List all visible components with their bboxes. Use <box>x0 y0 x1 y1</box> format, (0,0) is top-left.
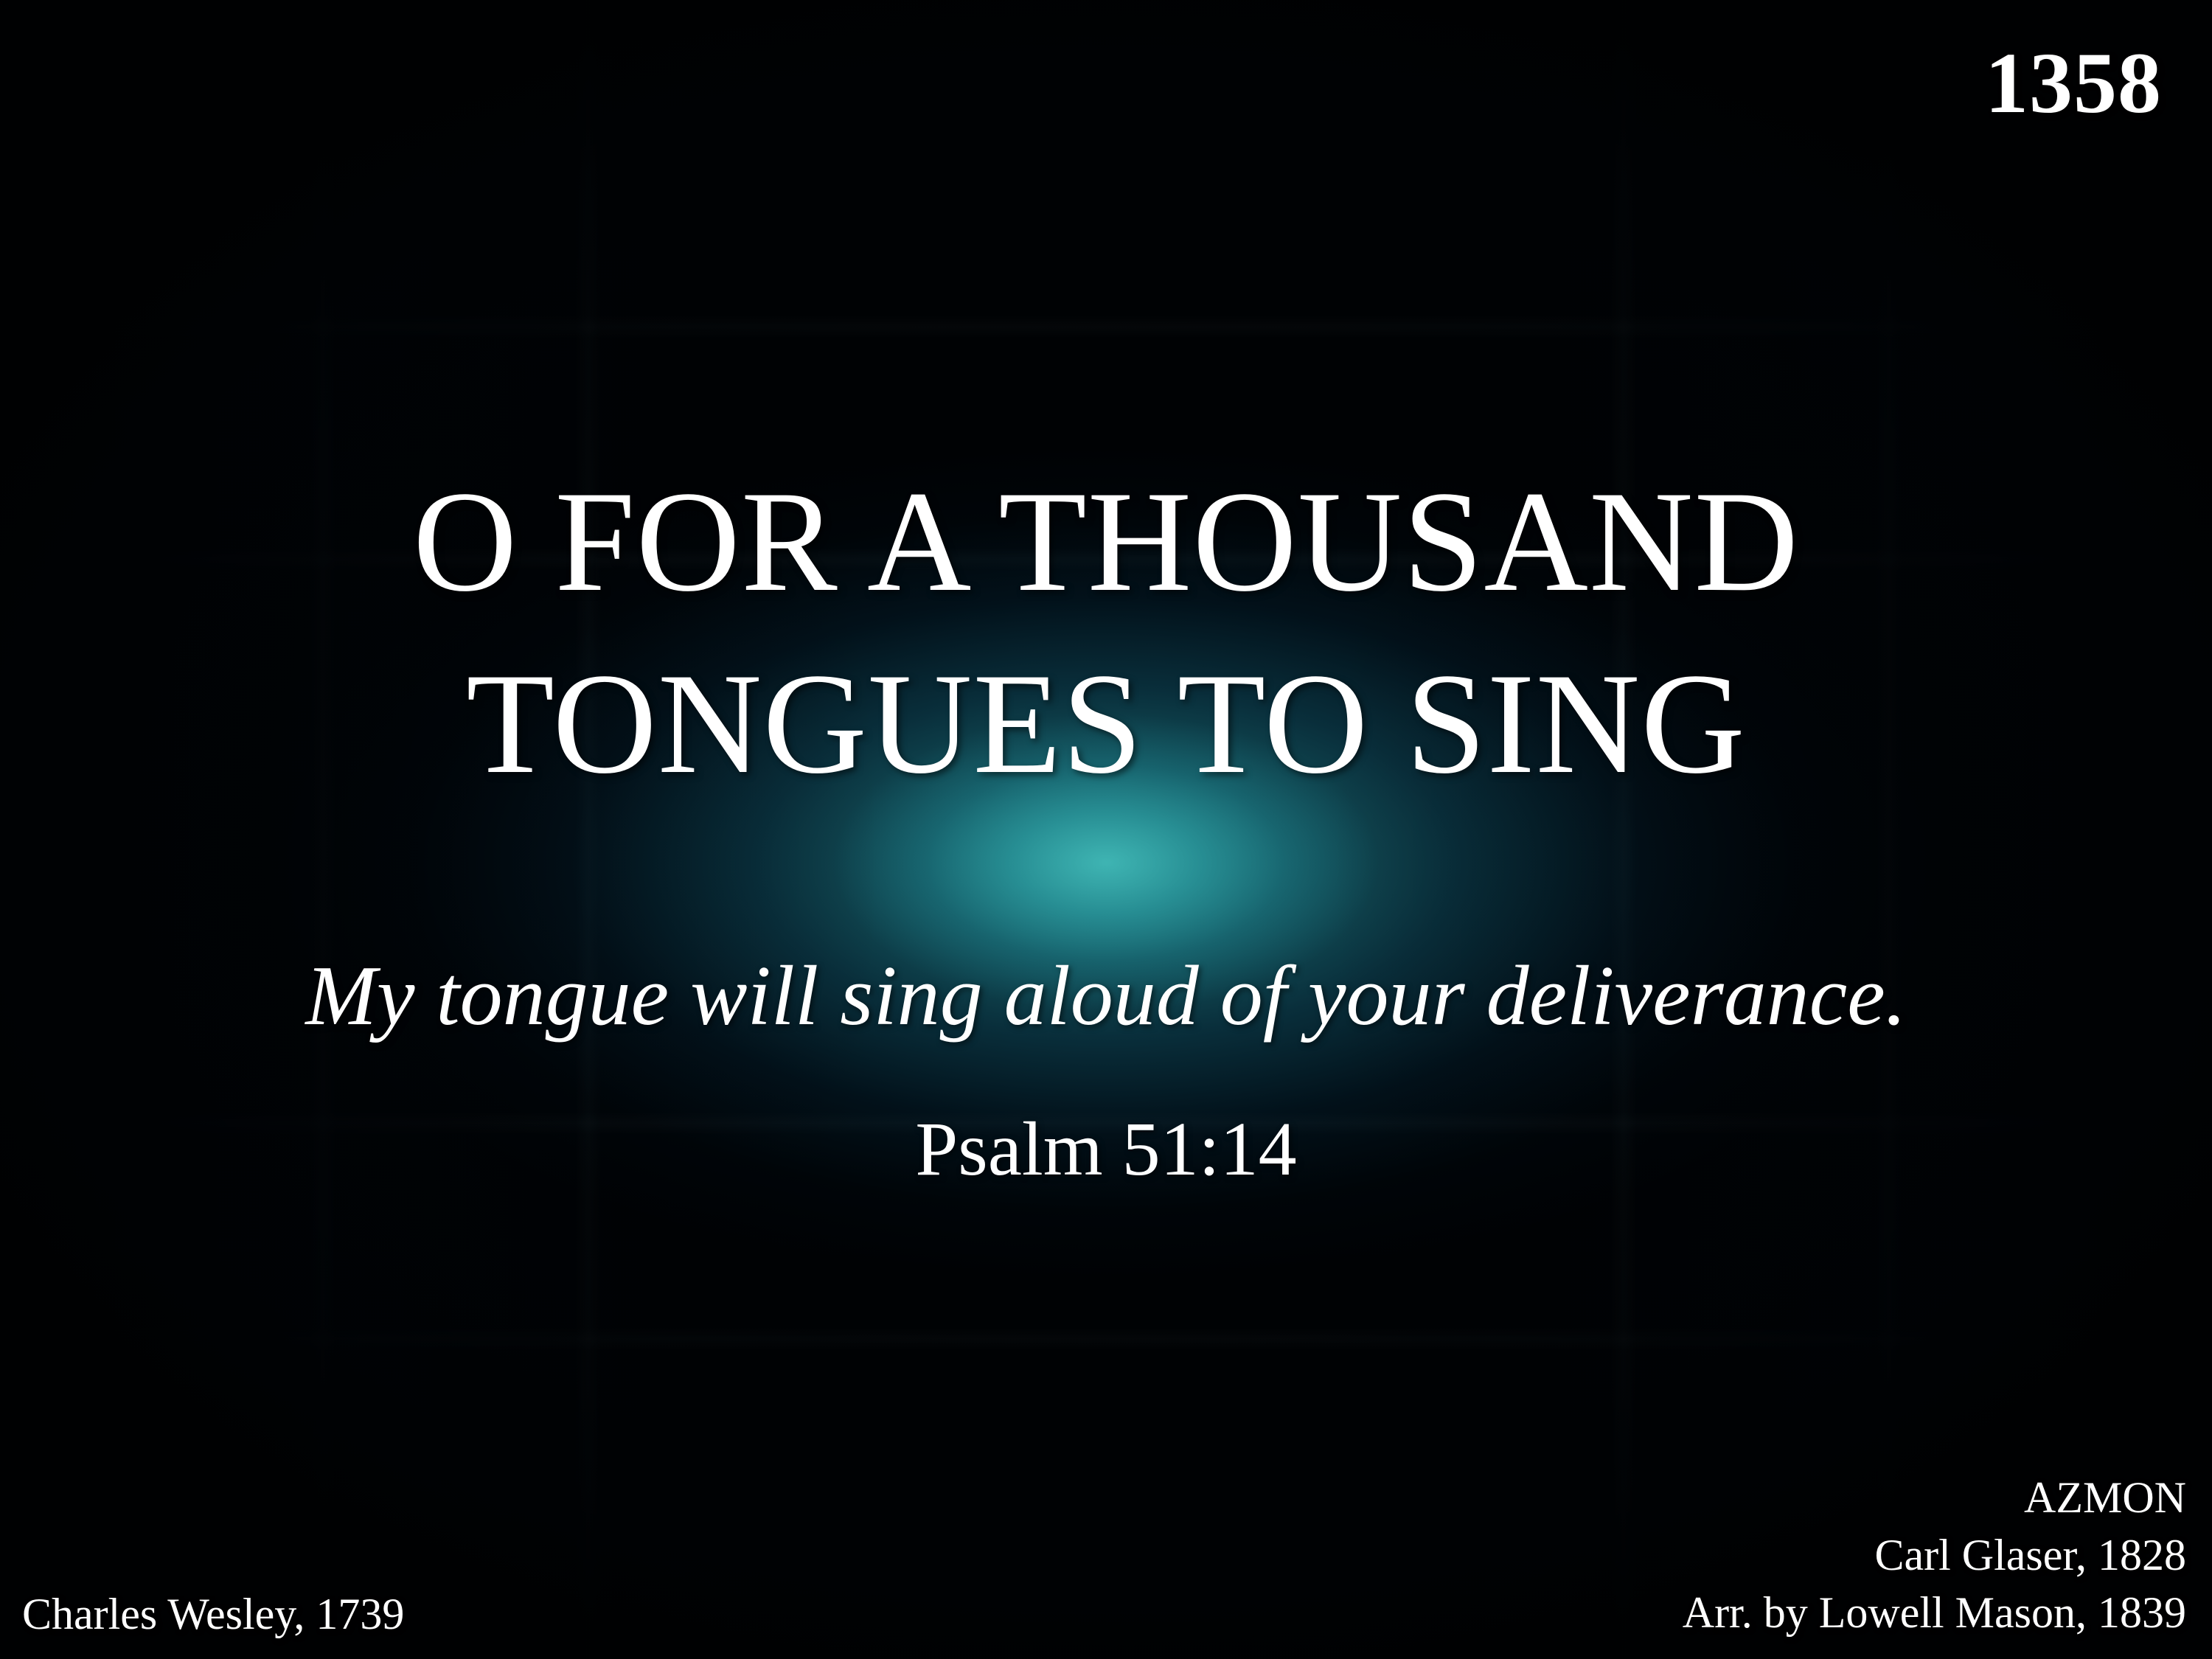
author-credit: Charles Wesley, 1739 <box>22 1585 404 1643</box>
arranger-credit: Arr. by Lowell Mason, 1839 <box>1683 1584 2186 1641</box>
hymn-title-line-2: TONGUES TO SING <box>0 633 2212 815</box>
hymn-slide: 1358 O FOR A THOUSAND TONGUES TO SING My… <box>0 0 2212 1659</box>
slide-content: 1358 O FOR A THOUSAND TONGUES TO SING My… <box>0 0 2212 1659</box>
hymn-title-line-1: O FOR A THOUSAND <box>0 451 2212 633</box>
tune-name: AZMON <box>1683 1469 2186 1526</box>
scripture-reference: Psalm 51:14 <box>0 1105 2212 1195</box>
hymn-title: O FOR A THOUSAND TONGUES TO SING <box>0 451 2212 815</box>
tune-credits: AZMON Carl Glaser, 1828 Arr. by Lowell M… <box>1683 1469 2186 1641</box>
scripture-text: My tongue will sing aloud of your delive… <box>0 946 2212 1047</box>
composer-credit: Carl Glaser, 1828 <box>1683 1526 2186 1584</box>
hymn-number: 1358 <box>1985 40 2162 127</box>
